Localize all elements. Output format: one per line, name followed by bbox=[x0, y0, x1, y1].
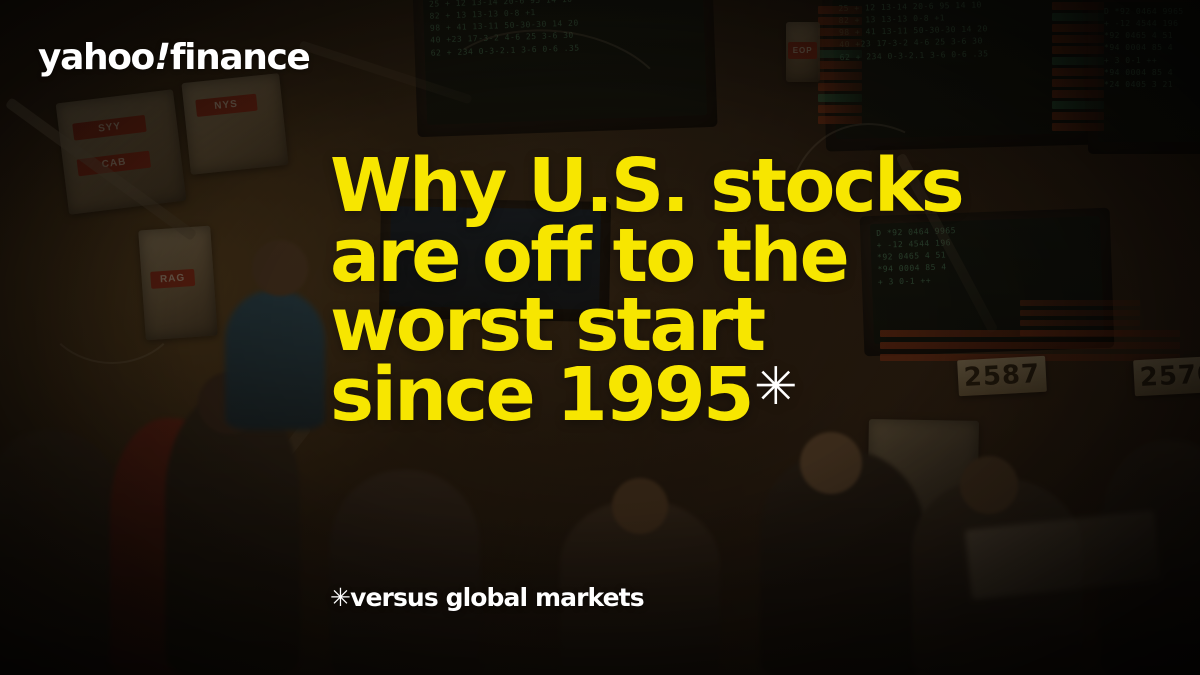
logo-text-yahoo: yahoo bbox=[38, 40, 154, 76]
card-content: yahoo!finance Why U.S. stocks are off to… bbox=[0, 0, 1200, 675]
asterisk-icon: ✳ bbox=[754, 357, 798, 417]
yahoo-finance-logo[interactable]: yahoo!finance bbox=[38, 40, 309, 76]
logo-text-finance: finance bbox=[170, 40, 310, 76]
headline-line-4: since 1995✳ bbox=[330, 361, 1030, 431]
footnote-text: versus global markets bbox=[350, 583, 644, 612]
headline-line-2: are off to the bbox=[330, 222, 1030, 292]
footnote-asterisk-icon: ✳ bbox=[330, 583, 350, 612]
headline-line-1: Why U.S. stocks bbox=[330, 152, 1030, 222]
headline-line-4-text: since 1995 bbox=[330, 352, 752, 438]
yahoo-finance-social-card: 25 + 12 13-14 20-6 95 14 10 82 + 13 13-1… bbox=[0, 0, 1200, 675]
headline: Why U.S. stocks are off to the worst sta… bbox=[330, 152, 1030, 430]
headline-line-3: worst start bbox=[330, 291, 1030, 361]
footnote: ✳versus global markets bbox=[330, 585, 644, 610]
